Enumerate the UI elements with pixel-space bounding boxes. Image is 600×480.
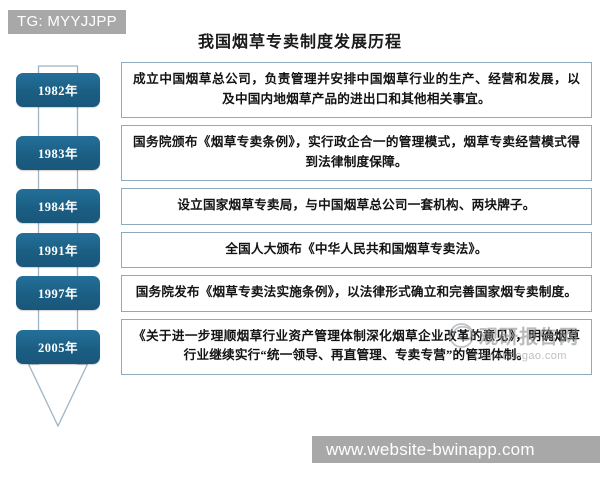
year-badge[interactable]: 1991年 <box>16 233 100 267</box>
year-badge[interactable]: 2005年 <box>16 330 100 364</box>
year-badge[interactable]: 1983年 <box>16 136 100 170</box>
list-item: 1991年 全国人大颁布《中华人民共和国烟草专卖法》。 <box>0 232 600 269</box>
list-item: 1984年 设立国家烟草专卖局，与中国烟草总公司一套机构、两块牌子。 <box>0 188 600 225</box>
page-title: 我国烟草专卖制度发展历程 <box>0 28 600 52</box>
event-text-box: 国务院发布《烟草专卖法实施条例》，以法律形式确立和完善国家烟专卖制度。 <box>121 275 592 312</box>
list-item: 1997年 国务院发布《烟草专卖法实施条例》，以法律形式确立和完善国家烟专卖制度… <box>0 275 600 312</box>
event-text-box: 设立国家烟草专卖局，与中国烟草总公司一套机构、两块牌子。 <box>121 188 592 225</box>
year-badge[interactable]: 1997年 <box>16 276 100 310</box>
event-text-box: 成立中国烟草总公司，负责管理并安排中国烟草行业的生产、经营和发展，以及中国内地烟… <box>121 62 592 118</box>
list-item: 1983年 国务院颁布《烟草专卖条例》，实行政企合一的管理模式，烟草专卖经营模式… <box>0 125 600 181</box>
year-badge[interactable]: 1982年 <box>16 73 100 107</box>
event-text-box: 《关于进一步理顺烟草行业资产管理体制深化烟草企业改革的意见》，明确烟草行业继续实… <box>121 319 592 375</box>
list-item: 1982年 成立中国烟草总公司，负责管理并安排中国烟草行业的生产、经营和发展，以… <box>0 62 600 118</box>
list-item: 2005年 《关于进一步理顺烟草行业资产管理体制深化烟草企业改革的意见》，明确烟… <box>0 319 600 375</box>
event-text-box: 全国人大颁布《中华人民共和国烟草专卖法》。 <box>121 232 592 269</box>
timeline-list: 1982年 成立中国烟草总公司，负责管理并安排中国烟草行业的生产、经营和发展，以… <box>0 62 600 382</box>
event-text-box: 国务院颁布《烟草专卖条例》，实行政企合一的管理模式，烟草专卖经营模式得到法律制度… <box>121 125 592 181</box>
bottom-url-bar: www.website-bwinapp.com <box>312 436 600 463</box>
year-badge[interactable]: 1984年 <box>16 189 100 223</box>
